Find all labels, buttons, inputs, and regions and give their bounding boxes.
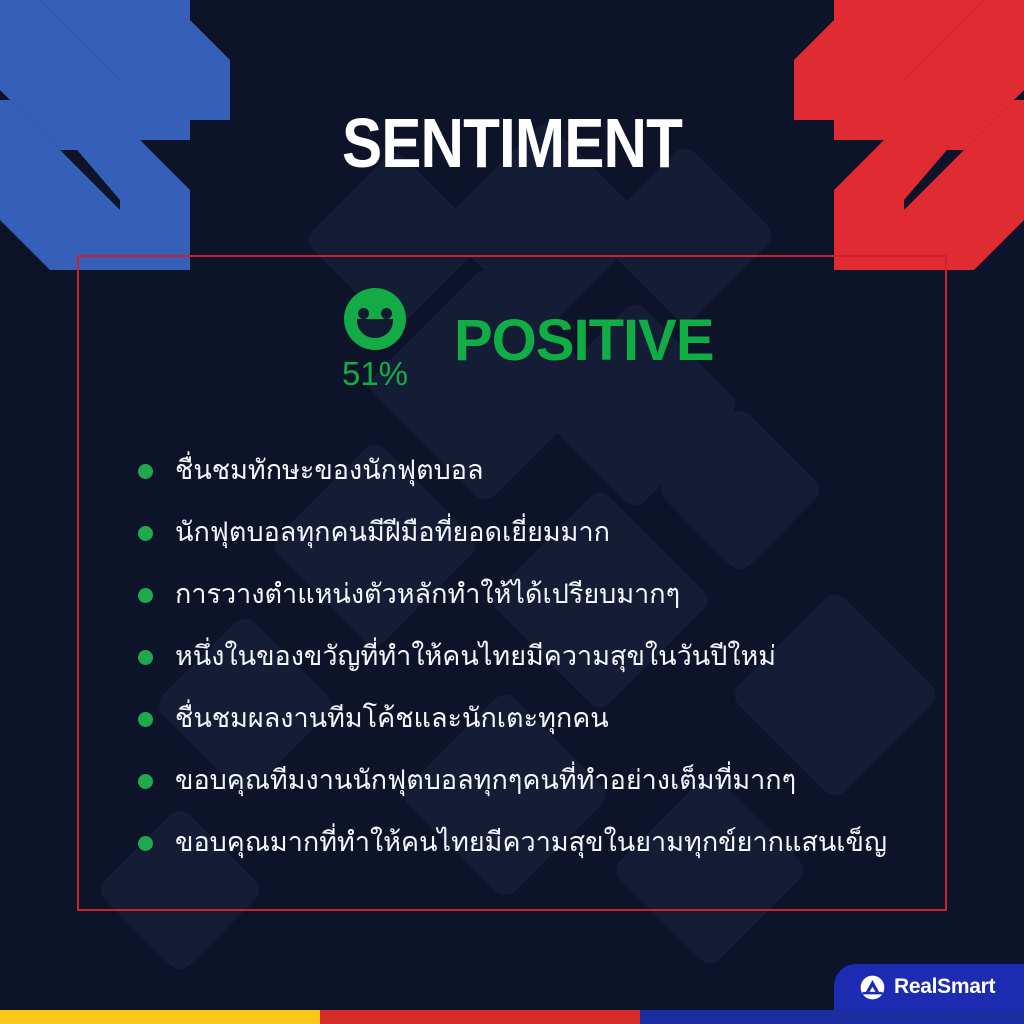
list-item-label: ขอบคุณทีมงานนักฟุตบอลทุกๆคนที่ทำอย่างเต็… <box>175 764 796 798</box>
comment-list: ชื่นชมทักษะของนักฟุตบอล นักฟุตบอลทุกคนมี… <box>138 440 938 874</box>
bullet-dot-icon <box>138 650 153 665</box>
strip-segment-red <box>320 1010 640 1024</box>
footer-color-strip <box>0 1010 1024 1024</box>
list-item-label: ชื่นชมผลงานทีมโค้ชและนักเตะทุกคน <box>175 702 609 736</box>
smiley-eye-left <box>358 308 369 319</box>
list-item-label: นักฟุตบอลทุกคนมีฝีมือที่ยอดเยี่ยมมาก <box>175 516 610 550</box>
page-title: SENTIMENT <box>72 108 953 178</box>
list-item-label: ขอบคุณมากที่ทำให้คนไทยมีความสุขในยามทุกข… <box>175 826 887 860</box>
bullet-dot-icon <box>138 836 153 851</box>
list-item: ชื่นชมผลงานทีมโค้ชและนักเตะทุกคน <box>138 688 938 750</box>
list-item: ชื่นชมทักษะของนักฟุตบอล <box>138 440 938 502</box>
list-item-label: หนึ่งในของขวัญที่ทำให้คนไทยมีความสุขในวั… <box>175 640 776 674</box>
list-item-label: การวางตำแหน่งตัวหลักทำให้ได้เปรียบมากๆ <box>175 578 680 612</box>
list-item: หนึ่งในของขวัญที่ทำให้คนไทยมีความสุขในวั… <box>138 626 938 688</box>
sentiment-label: POSITIVE <box>454 312 714 370</box>
bullet-dot-icon <box>138 526 153 541</box>
list-item: ขอบคุณทีมงานนักฟุตบอลทุกๆคนที่ทำอย่างเต็… <box>138 750 938 812</box>
bullet-dot-icon <box>138 712 153 727</box>
brand-name: RealSmart <box>894 975 995 999</box>
bullet-dot-icon <box>138 774 153 789</box>
list-item: นักฟุตบอลทุกคนมีฝีมือที่ยอดเยี่ยมมาก <box>138 502 938 564</box>
smiley-eye-right <box>381 308 392 319</box>
sentiment-header: 51% POSITIVE <box>77 283 947 393</box>
strip-segment-blue <box>640 1010 1024 1024</box>
realsmart-triangle-logo <box>860 975 885 1000</box>
strip-segment-yellow <box>0 1010 320 1024</box>
bullet-dot-icon <box>138 588 153 603</box>
list-item-label: ชื่นชมทักษะของนักฟุตบอล <box>175 454 484 488</box>
sentiment-score: 51% <box>310 283 440 392</box>
brand-badge: RealSmart <box>834 964 1024 1010</box>
sentiment-infographic: SENTIMENT 51% POSITIVE ชื่นชมทักษะของนัก… <box>0 0 1024 1024</box>
list-item: การวางตำแหน่งตัวหลักทำให้ได้เปรียบมากๆ <box>138 564 938 626</box>
sentiment-percent: 51% <box>310 356 440 392</box>
bullet-dot-icon <box>138 464 153 479</box>
smiley-face-icon <box>344 288 406 350</box>
list-item: ขอบคุณมากที่ทำให้คนไทยมีความสุขในยามทุกข… <box>138 812 938 874</box>
smiley-mouth <box>357 319 393 338</box>
